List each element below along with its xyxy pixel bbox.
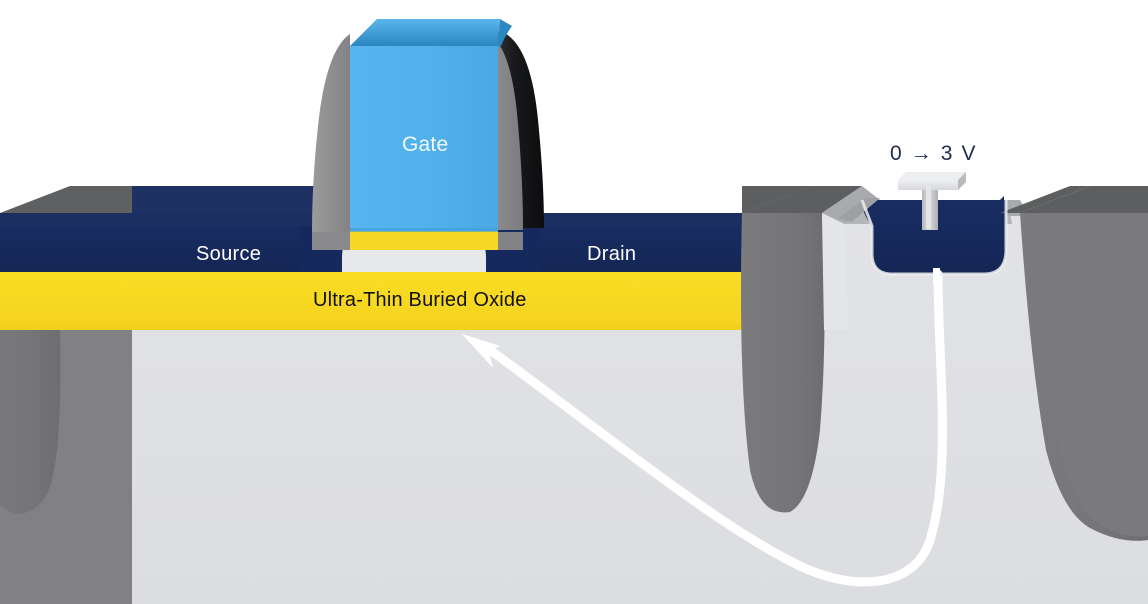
gate-oxide-foot [350, 232, 498, 250]
gate-bottom-edge [350, 228, 498, 232]
sti-trench-middle-body [741, 213, 823, 512]
contact-pad-top [898, 172, 966, 180]
source-region [0, 213, 345, 272]
contact-seam [933, 268, 940, 284]
device-cross-section-svg [0, 0, 1148, 604]
buried-oxide-layer [0, 272, 742, 330]
gate-body [350, 46, 498, 231]
navy-top-surface-left [70, 186, 345, 213]
gate-electrode [312, 19, 544, 250]
sd-top-over-spacers [300, 250, 314, 256]
diagram-canvas: Source Drain Gate Ultra-Thin Buried Oxid… [0, 0, 1148, 604]
contact-stem-highlight [926, 186, 931, 229]
